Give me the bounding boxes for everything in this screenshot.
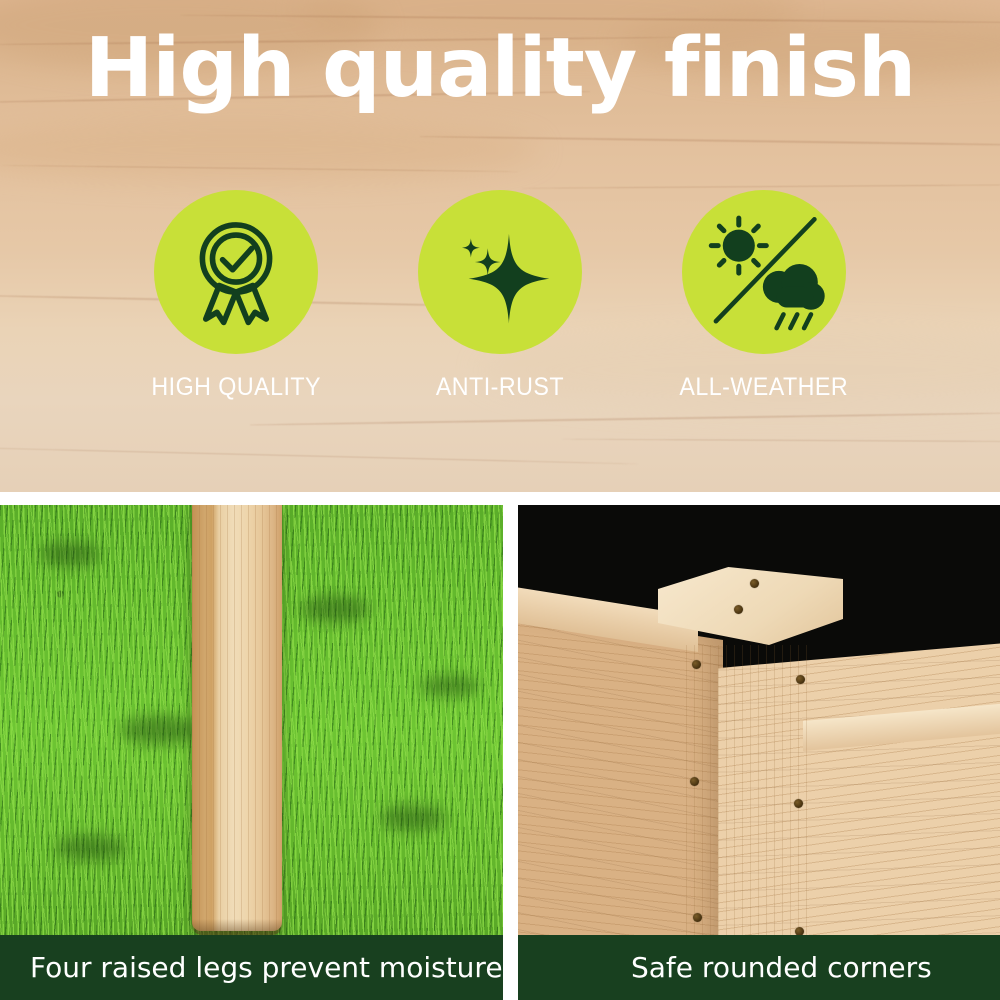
feature-badge-high-quality: HIGH QUALITY: [152, 190, 320, 402]
award-ribbon-check-icon: [180, 216, 292, 328]
badge-label: ANTI-RUST: [436, 373, 564, 402]
photo-panel-left: Four raised legs prevent moisture: [0, 505, 503, 1000]
planter-corner-photo: [518, 505, 1000, 1000]
caption-bar-right: Safe rounded corners: [518, 935, 1000, 1000]
page-title: High quality finish: [0, 26, 1000, 112]
caption-text: Safe rounded corners: [518, 951, 932, 984]
feature-badge-all-weather: ALL-WEATHER: [680, 190, 848, 402]
photo-panel-right: Safe rounded corners: [518, 505, 1000, 1000]
caption-text: Four raised legs prevent moisture: [0, 951, 503, 984]
vertical-divider: [503, 492, 518, 1000]
caption-bar-left: Four raised legs prevent moisture: [0, 935, 503, 1000]
badge-circle: [418, 190, 582, 354]
badge-circle: [154, 190, 318, 354]
sparkle-stars-icon: [444, 216, 556, 328]
feature-badge-anti-rust: ANTI-RUST: [416, 190, 584, 402]
hero-wood-panel: High quality finish: [0, 0, 1000, 492]
product-feature-infographic: High quality finish: [0, 0, 1000, 1000]
leg-wood-grain: [192, 505, 282, 931]
feature-badge-row: HIGH QUALITY ANTI-RUST: [0, 190, 1000, 402]
horizontal-divider: [0, 492, 1000, 505]
badge-circle: [682, 190, 846, 354]
sun-rain-cloud-icon: [701, 209, 827, 335]
leg-foot-shadow: [192, 919, 282, 935]
badge-label: ALL-WEATHER: [680, 373, 849, 402]
raised-leg: [192, 505, 282, 931]
badge-label: HIGH QUALITY: [151, 373, 321, 402]
